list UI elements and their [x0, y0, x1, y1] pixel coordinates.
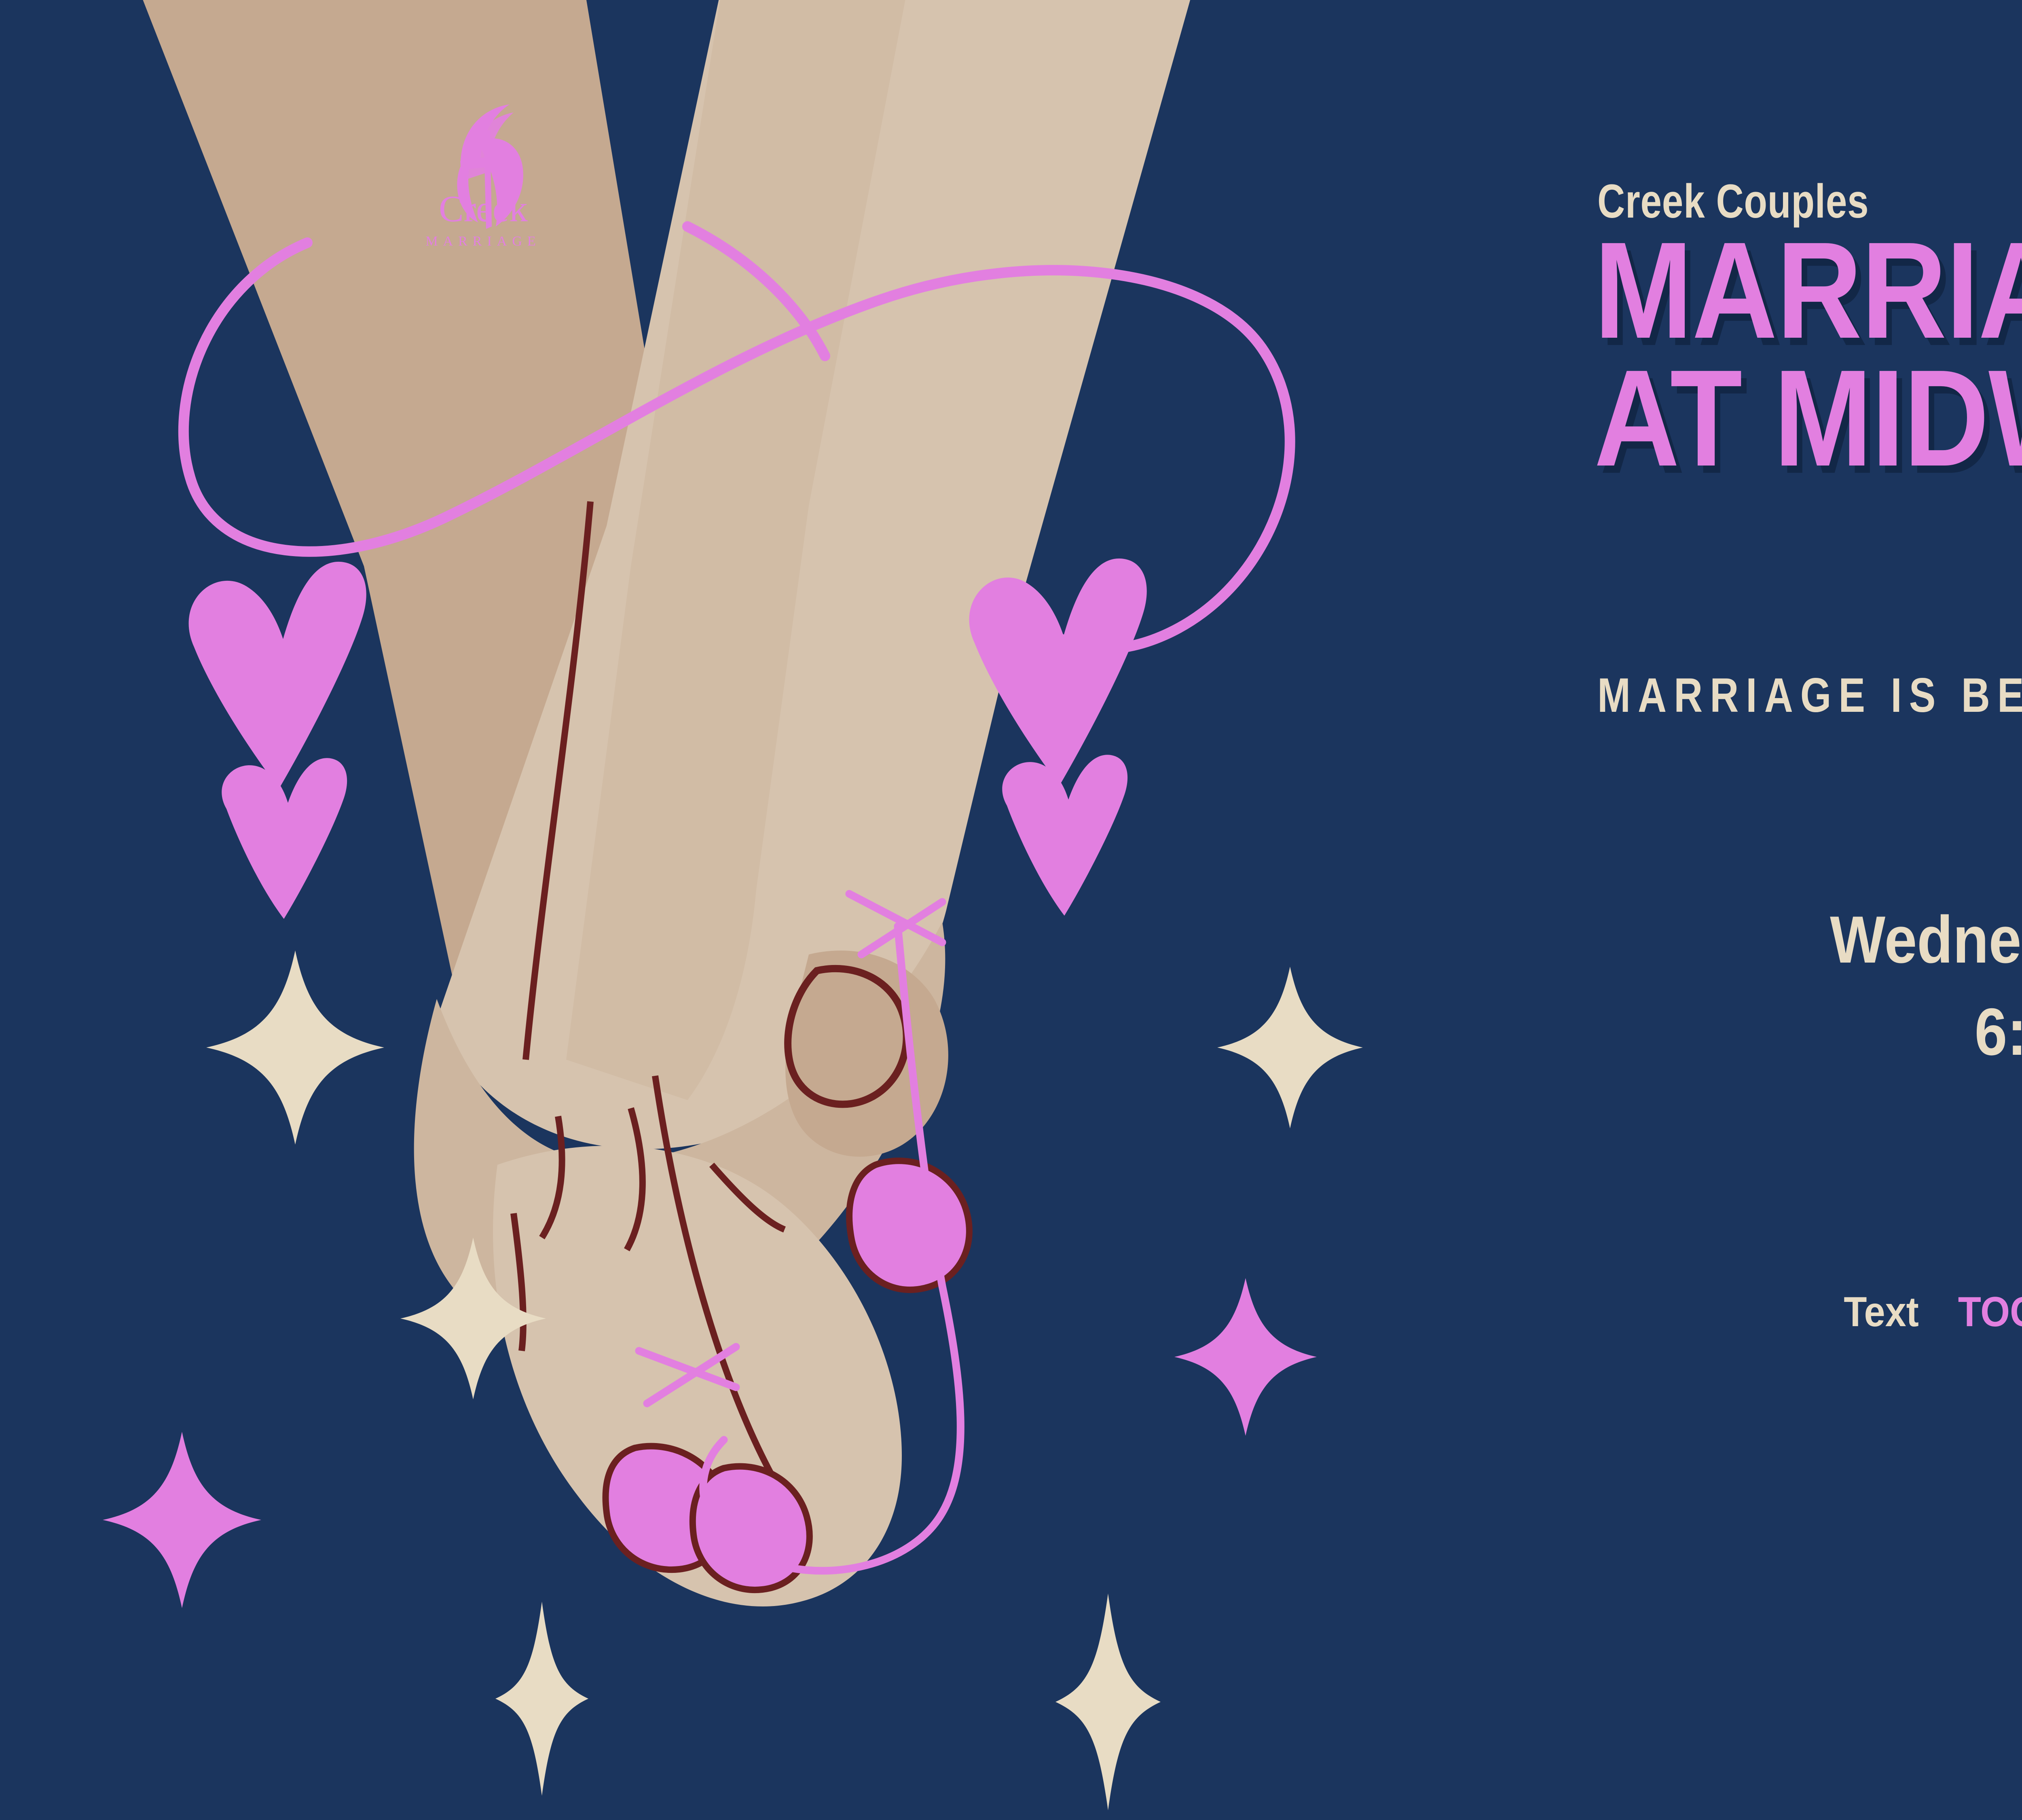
content-column: Creek Couples MARRIAGE AT MIDWEEK MARRIA…: [1557, 0, 2022, 1820]
logo-subwordmark: MARRIAGE: [388, 235, 578, 248]
marriage-at-midweek-poster: Creek MARRIAGE Creek Couples MARRIAGE AT…: [0, 0, 2022, 1820]
schedule-line-2: 6:30 – 8 p.m. | A234: [1639, 986, 2022, 1078]
scan-instruction: Scan: [1557, 1464, 2022, 1549]
holding-hands-illustration: [0, 0, 1537, 1820]
sms-instruction: Text TOGETHER to 77978 to learn more: [1557, 1288, 2022, 1336]
tagline: MARRIAGE IS BETTER TOGETHER: [1597, 667, 2022, 723]
schedule-block: Wednesdays | Begins Aug. 20 6:30 – 8 p.m…: [1557, 894, 2022, 1078]
page-title: MARRIAGE AT MIDWEEK: [1594, 226, 2022, 482]
sms-prefix: Text: [1844, 1288, 1919, 1336]
headline-line-2: AT MIDWEEK: [1594, 354, 2022, 482]
logo-wordmark: Creek: [388, 190, 578, 227]
sms-keyword: TOGETHER: [1958, 1288, 2022, 1336]
headline-line-1: MARRIAGE: [1594, 226, 2022, 354]
nail-pink-top: [849, 1161, 969, 1290]
schedule-line-1: Wednesdays | Begins Aug. 20: [1639, 894, 2022, 986]
